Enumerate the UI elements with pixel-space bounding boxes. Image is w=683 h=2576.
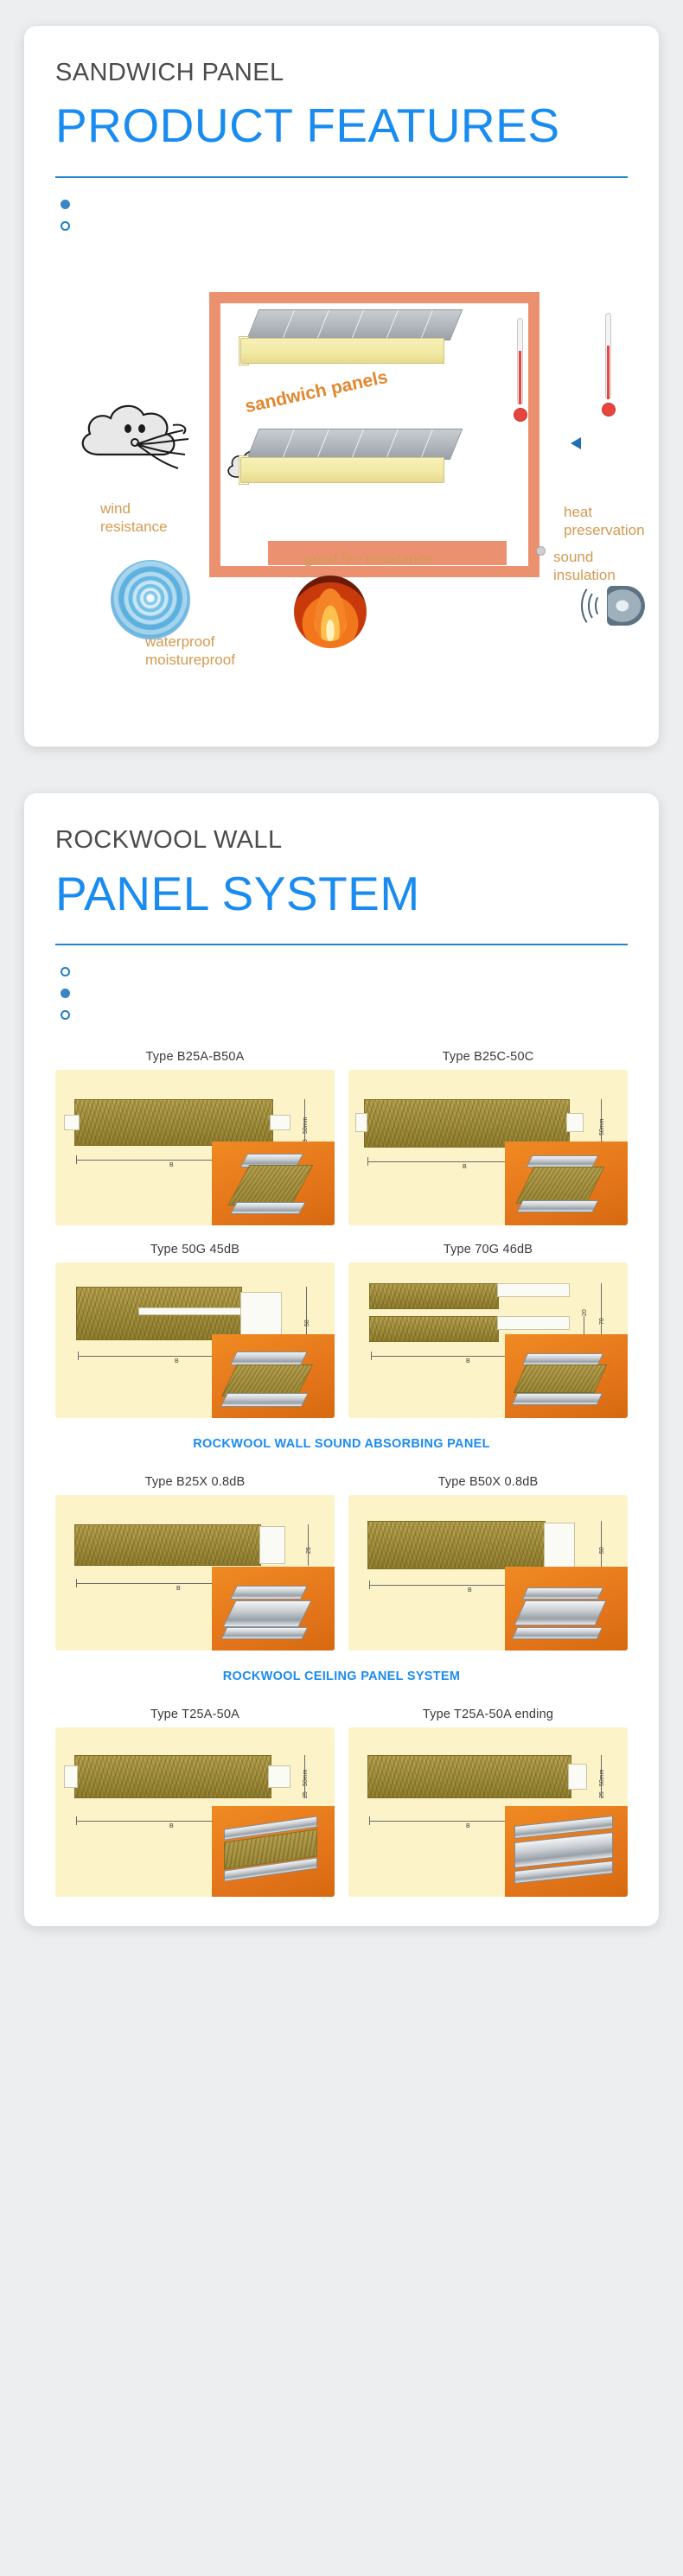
panel-grid-ceiling: Type T25A-50A B 25 - 50mm Type T25A-50A	[55, 1702, 628, 1897]
bullet-filled-icon	[61, 200, 70, 209]
dimension-b: B	[466, 1823, 470, 1829]
dimension-b: B	[176, 1586, 181, 1592]
dimension-b: B	[463, 1164, 467, 1170]
list-item	[61, 983, 628, 1004]
rockwool-core	[74, 1099, 273, 1146]
panel-title: Type T25A-50A	[55, 1702, 335, 1727]
rockwool-core	[369, 1283, 499, 1309]
panel-figure: B 50	[348, 1495, 628, 1651]
thermometer-icon	[602, 313, 616, 417]
list-item	[61, 1004, 628, 1026]
panel-end-clip	[544, 1523, 575, 1568]
dimension-thickness: 70	[599, 1319, 605, 1326]
panel-cell[interactable]: Type B25A-B50A B 25 - 50mm	[55, 1045, 335, 1225]
panel-photo-inset	[212, 1142, 335, 1225]
list-item	[61, 215, 628, 237]
panel-end-clip	[568, 1764, 587, 1790]
wind-cloud-icon	[73, 389, 194, 474]
panel-photo-inset	[505, 1806, 628, 1898]
label-wind-resistance: wind resistance	[100, 499, 167, 537]
bullet-hollow-icon	[61, 967, 70, 976]
dimension-thickness: 50	[304, 1320, 310, 1327]
dimension-b: B	[175, 1358, 179, 1364]
system-bullet-list	[55, 961, 628, 1026]
rockwool-panel-system-card: ROCKWOOL WALL PANEL SYSTEM Type B25A-B50…	[24, 793, 659, 1926]
panel-grid-wall: Type B25A-B50A B 25 - 50mm Type B25C-50	[55, 1045, 628, 1418]
sandwich-panel-upper	[240, 309, 456, 366]
dimension-b: B	[468, 1587, 472, 1593]
bullet-hollow-icon	[61, 1010, 70, 1020]
panel-photo-inset	[212, 1806, 335, 1898]
water-ripple-icon	[111, 560, 190, 639]
dimension-b: B	[169, 1162, 174, 1168]
label-sound-insulation: sound insulation	[553, 548, 616, 585]
label-fire-resistance: good fire resistance	[304, 550, 432, 568]
panel-core-front	[240, 457, 444, 483]
panel-end-clip	[259, 1526, 285, 1564]
section-eyebrow: SANDWICH PANEL	[55, 59, 628, 87]
panel-photo-inset	[505, 1567, 628, 1651]
rockwool-core	[74, 1755, 271, 1798]
title-divider	[55, 944, 628, 945]
dimension-b: B	[466, 1358, 470, 1364]
panel-end-clip	[64, 1765, 78, 1788]
panel-core-front	[240, 338, 444, 364]
sound-node-icon	[536, 546, 546, 556]
panel-cell[interactable]: Type B50X 0.8dB B 50	[348, 1470, 628, 1651]
dimension-thickness: 50	[599, 1548, 605, 1555]
panel-title: Type T25A-50A ending	[348, 1702, 628, 1727]
panel-end-clip	[240, 1292, 282, 1337]
panel-cell[interactable]: Type T25A-50A B 25 - 50mm	[55, 1702, 335, 1897]
panel-end-clip	[497, 1283, 570, 1297]
panel-figure: B 25 - 50mm	[348, 1727, 628, 1897]
rockwool-core	[369, 1316, 499, 1342]
sandwich-panel-diagram: sandwich panels wind resistanc	[55, 259, 628, 717]
panel-photo-inset	[212, 1334, 335, 1418]
panel-figure: B 25 - 50mm	[55, 1727, 335, 1897]
feature-bullet-list	[55, 194, 628, 237]
title-divider	[55, 176, 628, 178]
group-band-sound-absorbing: ROCKWOOL WALL SOUND ABSORBING PANEL	[55, 1437, 628, 1451]
dimension-thickness: 25 - 50mm	[303, 1770, 309, 1798]
panel-title: Type B25A-B50A	[55, 1045, 335, 1070]
dimension-thickness: 25 - 50mm	[599, 1770, 605, 1798]
bullet-hollow-icon	[61, 221, 70, 231]
panel-title: Type 70G 46dB	[348, 1237, 628, 1263]
section-headline: PANEL SYSTEM	[55, 866, 628, 922]
group-band-ceiling: ROCKWOOL CEILING PANEL SYSTEM	[55, 1670, 628, 1683]
speaker-icon	[588, 581, 645, 633]
list-item	[61, 961, 628, 983]
panel-slot	[138, 1307, 246, 1315]
panel-metal-top	[246, 309, 463, 340]
panel-figure: B 25 - 50mm	[55, 1070, 335, 1225]
panel-title: Type B50X 0.8dB	[348, 1470, 628, 1495]
fire-icon	[294, 576, 367, 648]
panel-end-clip	[355, 1113, 367, 1132]
panel-photo-inset	[505, 1142, 628, 1225]
dimension-b: B	[169, 1823, 174, 1829]
panel-figure: B 25 - 50mm	[348, 1070, 628, 1225]
label-waterproof: waterproof moistureproof	[145, 633, 235, 670]
panel-grid-sound-absorbing: Type B25X 0.8dB B 25 Type B50X 0.8dB	[55, 1470, 628, 1651]
label-heat-preservation: heat preservation	[564, 503, 645, 540]
panel-cell[interactable]: Type T25A-50A ending B 25 - 50mm	[348, 1702, 628, 1897]
panel-figure: B 20 70	[348, 1263, 628, 1418]
panel-photo-inset	[212, 1567, 335, 1651]
dimension-thickness: 25	[306, 1548, 312, 1555]
rockwool-core	[364, 1099, 570, 1148]
panel-end-clip	[64, 1115, 80, 1130]
arrow-left-icon	[571, 437, 581, 449]
panel-end-clip	[566, 1113, 584, 1132]
panel-cell[interactable]: Type 70G 46dB B 20 70	[348, 1237, 628, 1418]
panel-figure: B 25	[55, 1495, 335, 1651]
dimension-sub: 20	[582, 1310, 588, 1317]
panel-end-clip	[497, 1316, 570, 1330]
panel-title: Type B25C-50C	[348, 1045, 628, 1070]
panel-photo-inset	[505, 1334, 628, 1418]
panel-cell[interactable]: Type B25X 0.8dB B 25	[55, 1470, 335, 1651]
product-features-card: SANDWICH PANEL PRODUCT FEATURES	[24, 26, 659, 747]
rockwool-core	[367, 1521, 546, 1569]
thermometer-icon	[514, 318, 527, 422]
panel-metal-top	[246, 429, 463, 460]
panel-end-clip	[270, 1115, 290, 1130]
panel-end-clip	[268, 1765, 290, 1788]
section-eyebrow: ROCKWOOL WALL	[55, 826, 628, 855]
panel-figure: B 50	[55, 1263, 335, 1418]
sandwich-panel-lower	[240, 429, 456, 486]
rockwool-core	[367, 1755, 571, 1798]
section-headline: PRODUCT FEATURES	[55, 98, 628, 154]
panel-cell[interactable]: Type B25C-50C B 25 - 50mm	[348, 1045, 628, 1225]
list-item	[61, 194, 628, 215]
panel-title: Type B25X 0.8dB	[55, 1470, 335, 1495]
panel-cell[interactable]: Type 50G 45dB B 50	[55, 1237, 335, 1418]
rockwool-core	[74, 1524, 261, 1566]
panel-title: Type 50G 45dB	[55, 1237, 335, 1263]
bullet-filled-icon	[61, 989, 70, 998]
